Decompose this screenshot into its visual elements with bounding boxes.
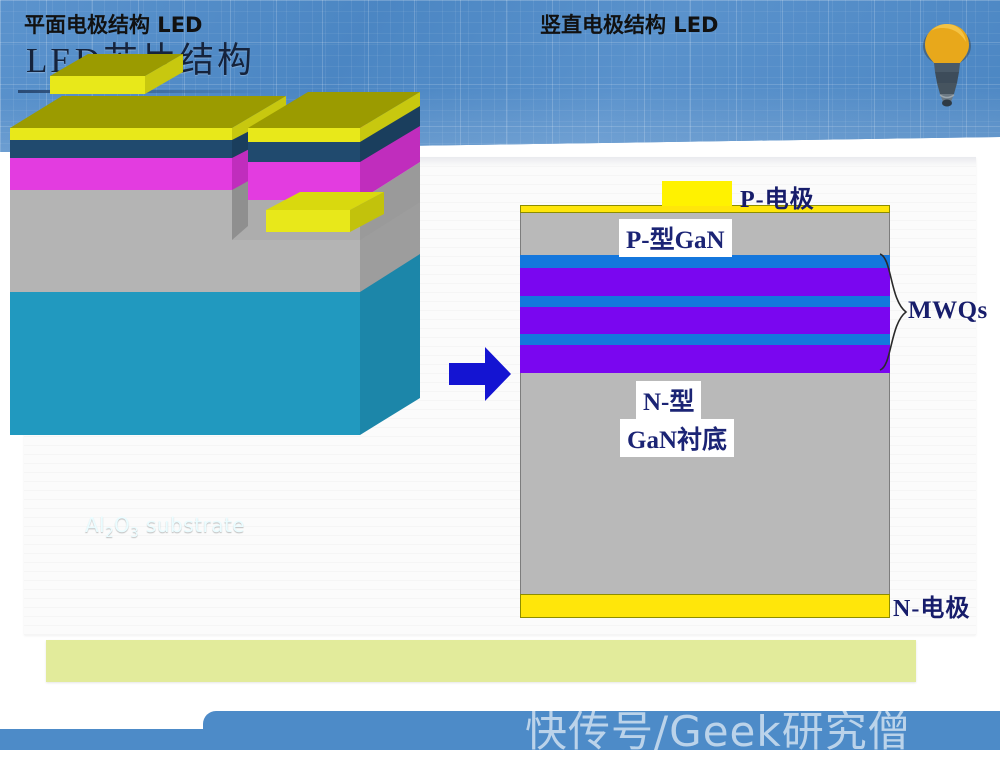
- p-electrode-slab-left: [10, 96, 286, 140]
- layer-n-electrode-film: [520, 594, 890, 618]
- layer-p-electrode-film: [520, 205, 890, 213]
- planar-led-3d-diagram: [10, 40, 440, 460]
- gan-substrate-label: GaN衬底: [620, 419, 734, 457]
- substrate-text-label: Al2O3 substrate: [85, 513, 245, 541]
- layer-mqw-well-2: [520, 307, 890, 334]
- transform-arrow-icon: [447, 345, 513, 403]
- p-bond-pad: [50, 54, 183, 94]
- p-electrode-callout: P-电极: [740, 179, 815, 214]
- layer-mqw-barrier-3: [520, 334, 890, 345]
- caption-bar: [46, 640, 916, 682]
- layer-mqw-well-3: [520, 345, 890, 373]
- p-electrode-pad: [662, 181, 732, 206]
- caption-planar-led: 平面电极结构 LED: [24, 9, 202, 39]
- layer-mqw-well-1: [520, 268, 890, 296]
- n-type-label: N-型: [636, 381, 701, 419]
- n-electrode-callout: N-电极: [893, 588, 970, 623]
- caption-vertical-led: 竖直电极结构 LED: [540, 9, 718, 39]
- layer-n-type-gan-substrate: [520, 373, 890, 594]
- p-type-gan-label: P-型GaN: [619, 219, 732, 257]
- layer-mqw-barrier-2: [520, 296, 890, 307]
- mwqs-brace-icon: [878, 252, 910, 372]
- light-bulb-icon: [920, 20, 974, 108]
- vertical-led-diagram: [520, 205, 890, 620]
- mwqs-callout: MWQs: [908, 297, 988, 325]
